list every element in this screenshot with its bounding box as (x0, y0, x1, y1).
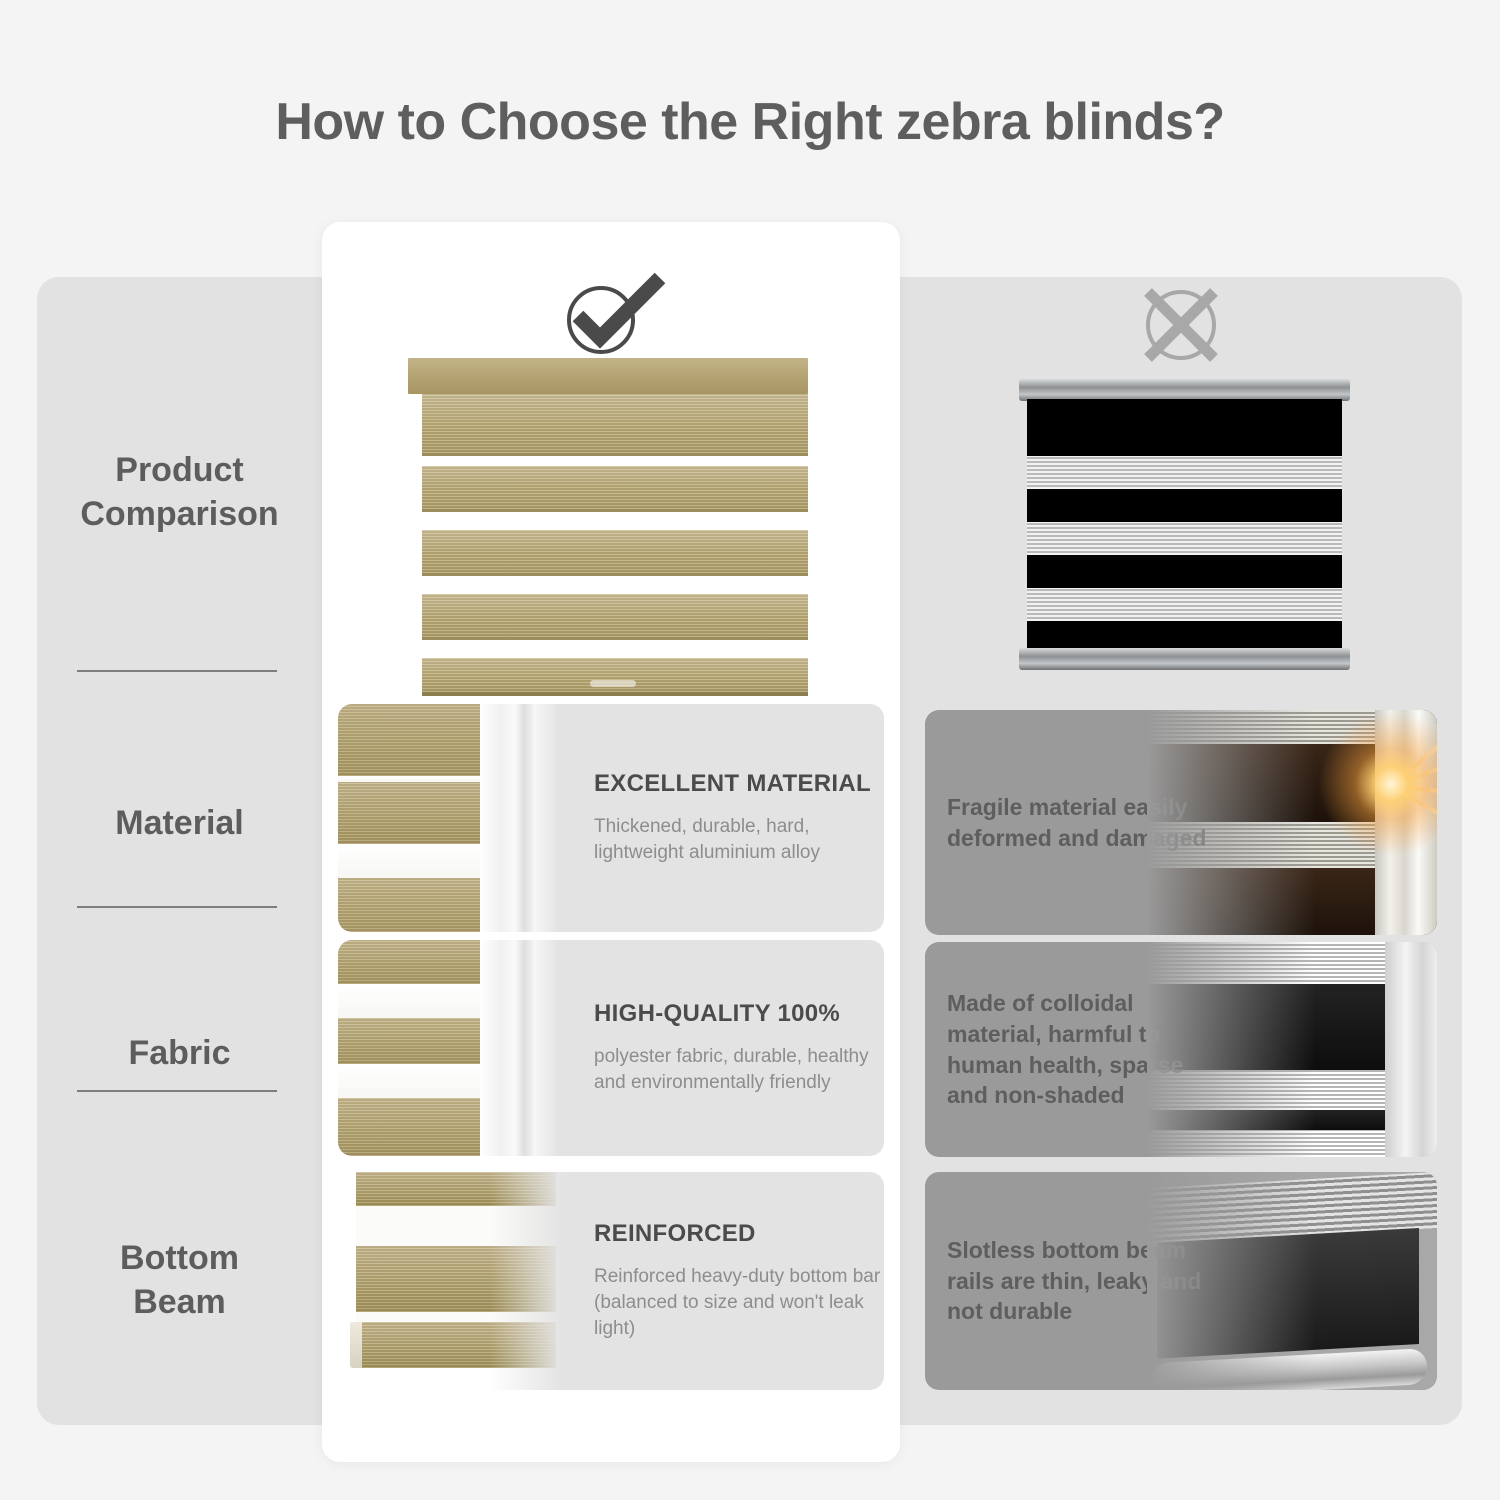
good-feature-card-material: tan zebra blind mounted in white window … (338, 704, 884, 932)
good-feature-image-fabric: close-up of tan zebra blind fabric (338, 940, 556, 1156)
image-fade (1147, 1172, 1437, 1390)
good-feature-text-fabric: HIGH-QUALITY 100% polyester fabric, dura… (594, 940, 884, 1156)
good-feature-card-fabric: close-up of tan zebra blind fabric HIGH-… (338, 940, 884, 1156)
good-feature-image-material: tan zebra blind mounted in white window … (338, 704, 556, 932)
row-label-bottom-beam: Bottom Beam (37, 1237, 322, 1324)
blind-bottom-rail (1019, 648, 1350, 670)
bad-feature-image-bottom-beam: thin slotless bottom rail (1147, 1172, 1437, 1390)
bad-feature-card-fabric: sparse see-through zebra fabric Made of … (925, 942, 1437, 1157)
blind-sheer-stripe (1027, 588, 1342, 621)
good-feature-image-bottom-beam: reinforced bottom bar of tan zebra blind (338, 1172, 578, 1390)
blind-headrail (408, 358, 808, 394)
row-label-line-2: Beam (37, 1281, 322, 1325)
blind-sheer-stripe (1027, 522, 1342, 555)
bad-feature-image-material: sunlight leaking through a deformed blin… (1147, 710, 1437, 935)
cross-circle-icon (1126, 280, 1236, 370)
window-frame (480, 940, 556, 1156)
good-feature-text-bottom-beam: REINFORCED Reinforced heavy-duty bottom … (594, 1172, 884, 1390)
blind-slat (422, 594, 808, 640)
row-label-line-1: Fabric (37, 1032, 322, 1076)
row-label-line-1: Material (37, 802, 322, 846)
row-divider-1 (77, 670, 277, 672)
blind-sheer-stripe (338, 844, 488, 878)
blind-photo (338, 704, 556, 932)
blind-photo (338, 940, 556, 1156)
bottom-bar-endcap (350, 1322, 362, 1368)
image-fade (1147, 710, 1437, 935)
bad-feature-card-material: sunlight leaking through a deformed blin… (925, 710, 1437, 935)
blind-bottom-bar (422, 658, 808, 696)
row-label-line-2: Comparison (37, 493, 322, 537)
bad-feature-image-fabric: sparse see-through zebra fabric (1147, 942, 1437, 1157)
good-feature-card-bottom-beam: reinforced bottom bar of tan zebra blind… (338, 1172, 884, 1390)
row-label-product-comparison: Product Comparison (37, 449, 322, 536)
blind-slat (338, 782, 488, 844)
blind-sheer-stripe (338, 1064, 488, 1098)
blind-headrail (1019, 379, 1350, 401)
row-label-material: Material (37, 802, 322, 846)
row-divider-2 (77, 906, 277, 908)
blind-sheer-stripe (1027, 456, 1342, 489)
comparison-infographic: How to Choose the Right zebra blinds? Pr… (0, 0, 1500, 1500)
feature-body: Thickened, durable, hard, lightweight al… (594, 814, 884, 866)
blind-slat (422, 530, 808, 576)
feature-heading: REINFORCED (594, 1220, 884, 1248)
blind-slat (338, 940, 488, 984)
blind-slat (338, 704, 488, 776)
page-title: How to Choose the Right zebra blinds? (0, 92, 1500, 152)
feature-body: polyester fabric, durable, healthy and e… (594, 1044, 884, 1096)
blind-photo (338, 1172, 578, 1390)
blind-slat (422, 466, 808, 512)
blind-fabric (1027, 399, 1342, 650)
bad-hero-blind-image: black zebra blind with silver rails (1019, 379, 1350, 670)
image-fade (1147, 942, 1437, 1157)
blind-handle (590, 680, 636, 687)
feature-heading: HIGH-QUALITY 100% (594, 1000, 884, 1028)
feature-body: Reinforced heavy-duty bottom bar (balanc… (594, 1264, 884, 1343)
check-circle-icon (556, 268, 666, 358)
row-label-line-1: Bottom (37, 1237, 322, 1281)
row-label-fabric: Fabric (37, 1032, 322, 1076)
good-hero-blind-image: tan wooden zebra blind (408, 358, 808, 696)
image-fade (490, 1172, 578, 1390)
blind-slat (338, 878, 488, 932)
bad-feature-card-bottom-beam: thin slotless bottom rail Slotless botto… (925, 1172, 1437, 1390)
blind-slat (338, 1018, 488, 1064)
blind-slat (422, 394, 808, 456)
row-label-line-1: Product (37, 449, 322, 493)
blind-sheer-stripe (338, 984, 488, 1018)
row-divider-3 (77, 1090, 277, 1092)
good-feature-text-material: EXCELLENT MATERIAL Thickened, durable, h… (594, 704, 884, 932)
window-frame (480, 704, 556, 932)
feature-heading: EXCELLENT MATERIAL (594, 770, 884, 798)
row-label-column: Product Comparison Material Fabric Botto… (37, 277, 322, 1425)
blind-slat (338, 1098, 488, 1156)
